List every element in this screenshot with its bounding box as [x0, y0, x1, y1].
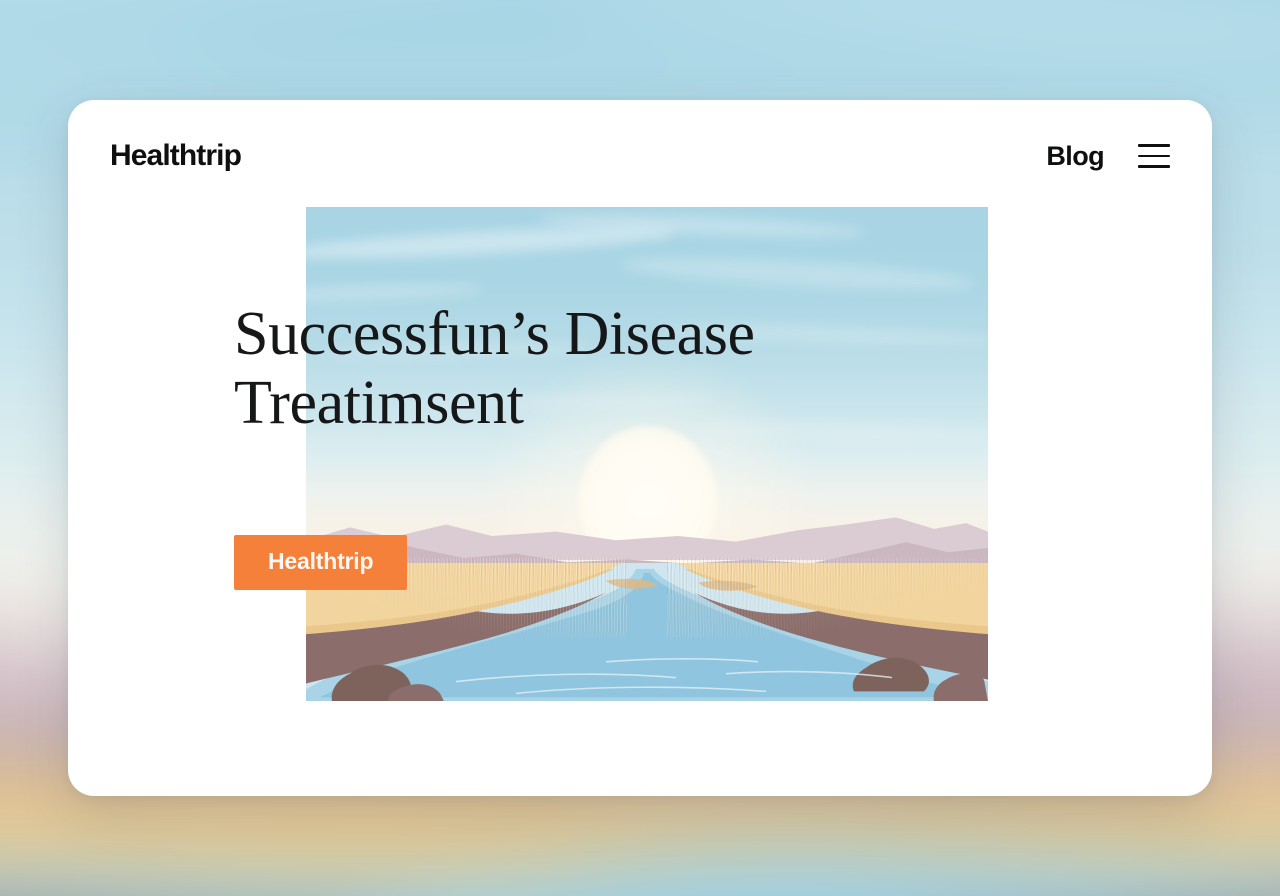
hero-title: Successfun’s Disease Treatimsent [234, 300, 794, 439]
page-card: Healthtrip Blog [68, 100, 1212, 796]
hamburger-bar-2 [1138, 155, 1170, 158]
hamburger-bar-1 [1138, 144, 1170, 147]
hamburger-icon[interactable] [1138, 144, 1170, 168]
header-nav: Blog [1046, 143, 1170, 170]
nav-blog-link[interactable]: Blog [1046, 143, 1104, 170]
hero-cta-button[interactable]: Healthtrip [234, 535, 407, 590]
logo[interactable]: Healthtrip [110, 141, 241, 171]
hamburger-bar-3 [1138, 165, 1170, 168]
site-header: Healthtrip Blog [68, 100, 1212, 212]
hero-copy: Successfun’s Disease Treatimsent Healtht… [234, 300, 854, 590]
